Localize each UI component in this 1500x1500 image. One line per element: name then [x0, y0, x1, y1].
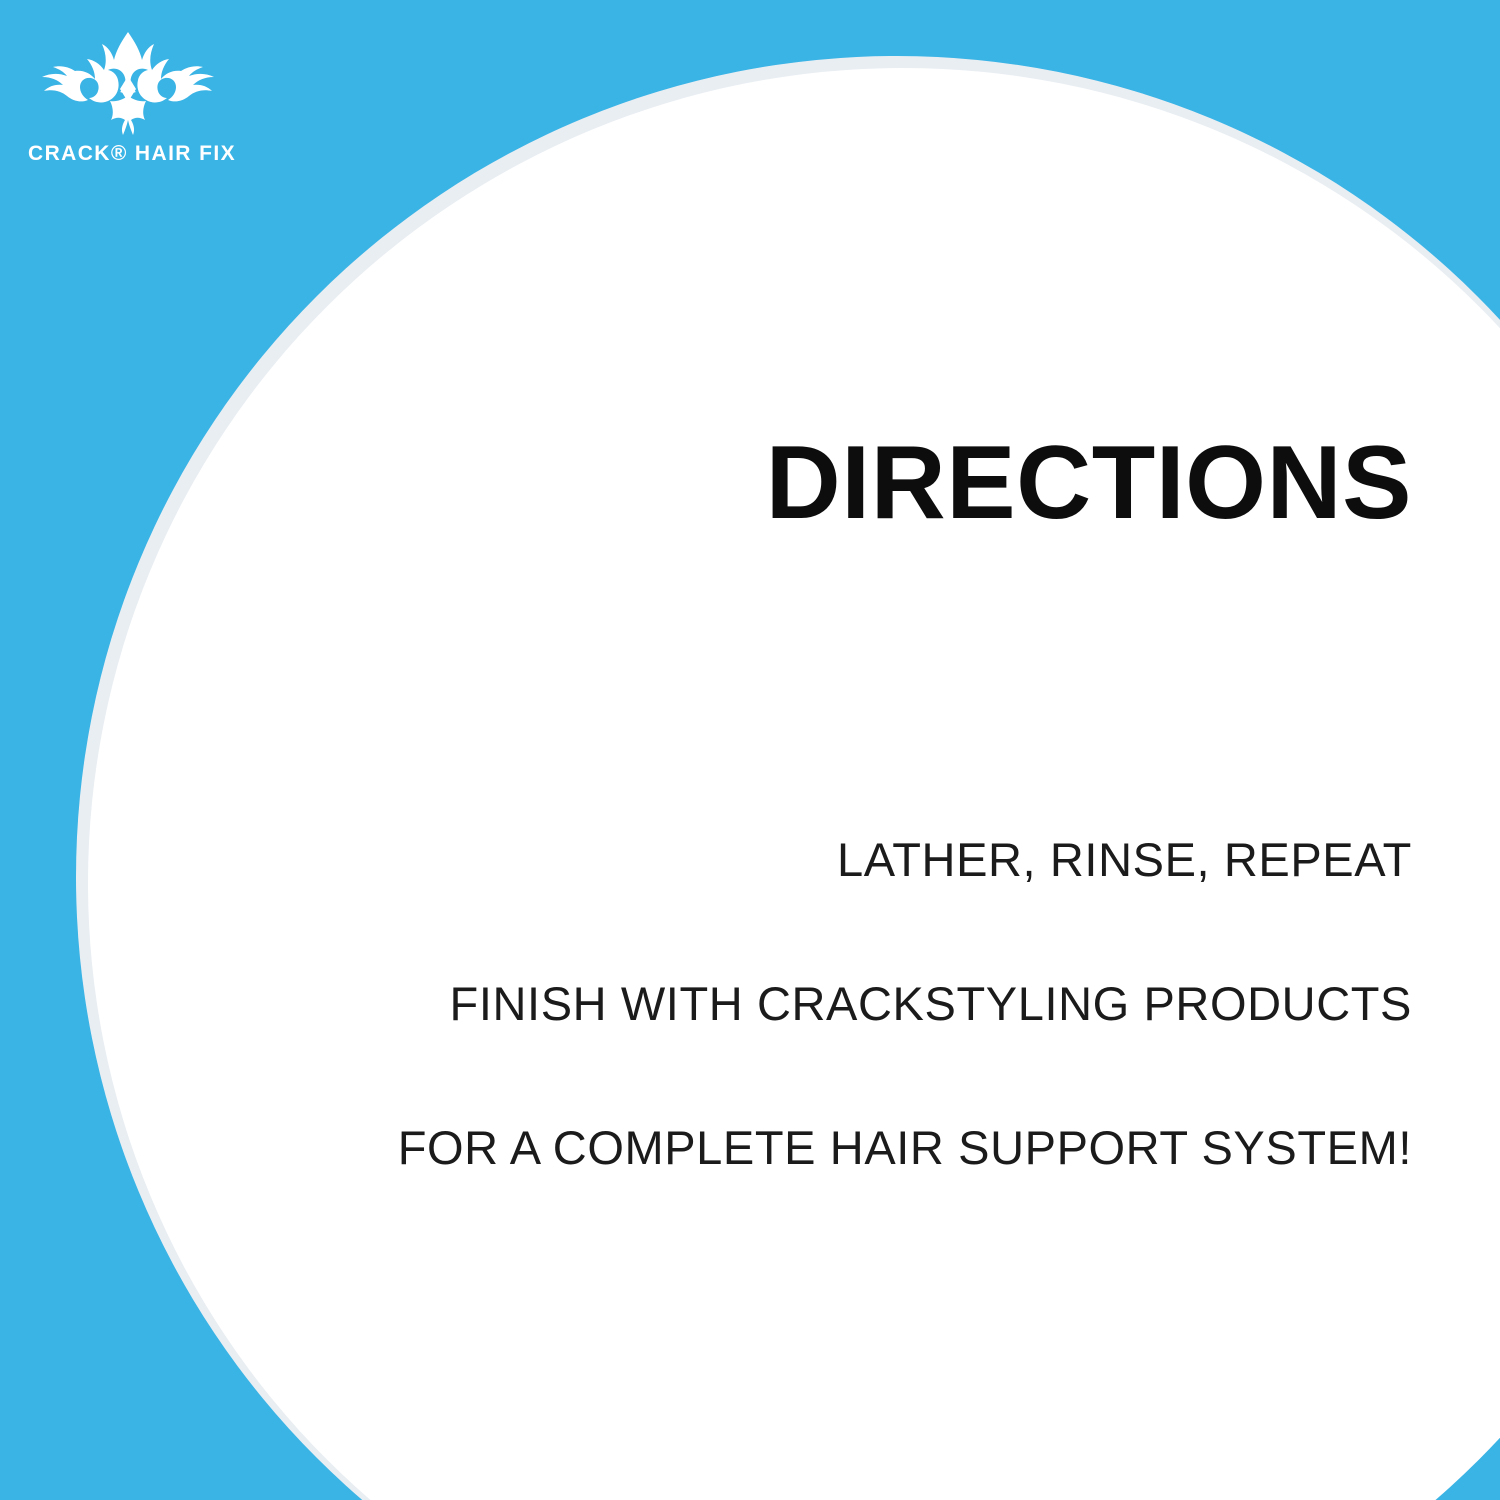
direction-line-2: FINISH WITH CRACKSTYLING PRODUCTS [300, 980, 1412, 1027]
directions-content: DIRECTIONS LATHER, RINSE, REPEAT FINISH … [300, 430, 1412, 1171]
product-directions-poster: CRACK® HAIR FIX DIRECTIONS LATHER, RINSE… [0, 0, 1500, 1500]
direction-line-1: LATHER, RINSE, REPEAT [300, 836, 1412, 883]
page-title: DIRECTIONS [300, 430, 1412, 536]
directions-list: LATHER, RINSE, REPEAT FINISH WITH CRACKS… [300, 836, 1412, 1171]
brand-logo: CRACK® HAIR FIX [28, 26, 228, 166]
ornamental-filigree-icon [28, 26, 228, 138]
direction-line-3: FOR A COMPLETE HAIR SUPPORT SYSTEM! [300, 1124, 1412, 1171]
brand-wordmark: CRACK® HAIR FIX [28, 142, 228, 166]
